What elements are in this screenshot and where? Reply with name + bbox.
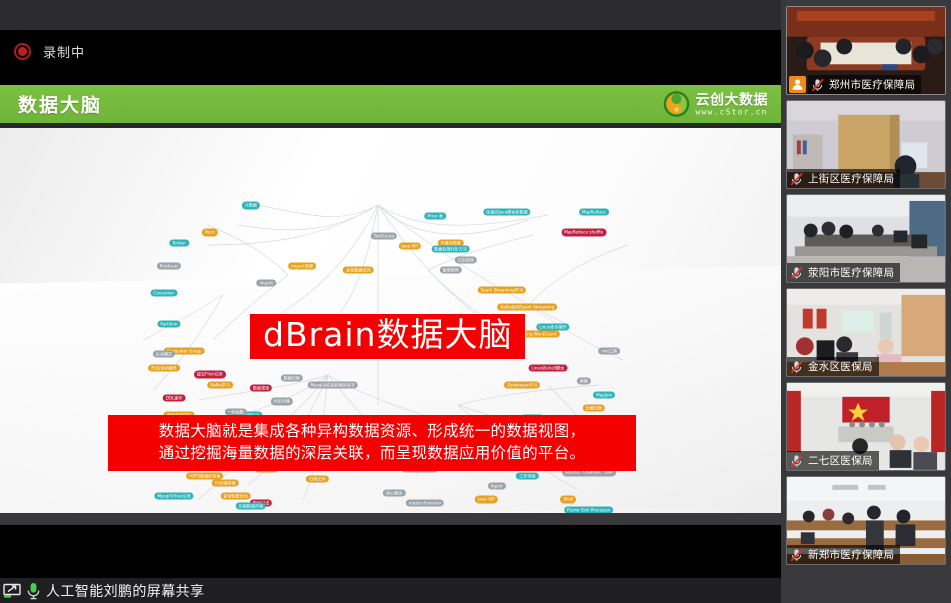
microphone-muted-icon [790, 454, 804, 468]
participant-name: 荥阳市医疗保障局 [808, 265, 894, 280]
mindmap-node: Linux的shell脚本 [528, 364, 567, 371]
participant-thumbnail[interactable]: 金水区医保局 [786, 288, 946, 377]
mindmap-node: 开启/关闭服务 [148, 364, 180, 371]
description-line-2: 通过挖掘海量数据的深层关联，而呈现数据应用价值的平台。 [118, 442, 626, 464]
mindmap-node: 归档文件 [306, 476, 328, 483]
mindmap-node: import原理 [288, 263, 316, 270]
participant-label: 上街区医疗保障局 [787, 169, 900, 188]
participant-name: 上街区医疗保障局 [808, 171, 894, 186]
mindmap-node: 数据类型 [250, 384, 272, 391]
letterbox-area [0, 525, 781, 578]
participant-label: 二七区医保局 [787, 451, 879, 470]
recording-indicator[interactable]: 录制中 [14, 42, 85, 61]
microphone-muted-icon [811, 78, 825, 92]
participant-label: 郑州市医疗保障局 [808, 75, 921, 94]
slide-description-box: 数据大脑就是集成各种异构数据资源、形成统一的数据视图， 通过挖掘海量数据的深层关… [108, 415, 636, 471]
screen-share-statusbar: 人工智能刘鹏的屏幕共享 [0, 578, 781, 603]
mindmap-node: Mysql对应库和表的名字 [308, 381, 359, 388]
screen-share-label: 人工智能刘鹏的屏幕共享 [46, 581, 204, 601]
mindmap-node: TextCount [371, 232, 397, 239]
mindmap-node: 数据迁移 [281, 374, 303, 381]
record-dot-icon [14, 43, 31, 60]
mindmap-node: Producer [157, 263, 181, 270]
avatar [789, 76, 806, 93]
mindmap-node: 压缩数据存储 [236, 503, 267, 510]
brand-name: 云创大数据 [696, 92, 769, 106]
mindmap-node: Flume Sink Processor [564, 506, 614, 513]
mindmap-node: Topic [202, 229, 218, 236]
mindmap-node: 使用案例 [439, 266, 461, 273]
microphone-muted-icon [790, 548, 804, 562]
microphone-on-icon[interactable] [26, 582, 41, 600]
mindmap-node: 快速的Java脚本和数据 [483, 209, 530, 216]
mindmap-node: 负载均衡 [583, 405, 605, 412]
mindmap-node: 查询性能优化 [220, 493, 251, 500]
participant-gallery[interactable]: 郑州市医疗保障局 上街区医疗保障局 荥阳市医疗保障局 [781, 0, 951, 603]
mindmap-node: MapReduce shuffle [561, 229, 606, 236]
participant-thumbnail[interactable]: 上街区医疗保障局 [786, 100, 946, 189]
participant-thumbnail[interactable]: 二七区医保局 [786, 382, 946, 471]
microphone-muted-icon [790, 172, 804, 186]
participant-name: 新郑市医疗保障局 [808, 547, 894, 562]
mindmap-node: Kafka结合Spark Streaming [497, 303, 557, 310]
mindmap-node: 分区分桶 [270, 398, 292, 405]
window-top-chrome [0, 0, 781, 30]
mindmap-node: Java API [398, 242, 420, 249]
mindmap-node: Mysql与Hive互导 [154, 493, 193, 500]
mindmap-node: 行存储原理 [212, 479, 238, 486]
mindmap-node: 企业模式 [153, 351, 175, 358]
mindmap-node: 工作流程 [516, 472, 538, 479]
mindmap-node: vim工具 [598, 347, 620, 354]
mindmap-node: Partition [157, 320, 180, 327]
mindmap-node: Agent [488, 482, 506, 489]
recording-label: 录制中 [43, 42, 85, 61]
mindmap-node: 原理 [577, 378, 591, 385]
mindmap-node: 提交Flink任务 [194, 371, 226, 378]
participant-name: 金水区医保局 [808, 359, 873, 374]
mindmap-node: 日志结构 [455, 256, 477, 263]
mindmap-node: DDL操作 [163, 395, 186, 402]
slide-header-bar: 数据大脑 云创大数据 www.cStor.cn [0, 85, 781, 123]
slide-header-title: 数据大脑 [18, 91, 102, 118]
mindmap-node: master与worker [406, 499, 445, 506]
main-title-text: dBrain数据大脑 [263, 318, 512, 353]
microphone-muted-icon [790, 360, 804, 374]
brand-url: www.cStor.cn [696, 108, 769, 116]
participant-thumbnail[interactable]: 新郑市医疗保障局 [786, 476, 946, 565]
mindmap-node: 元数据 [242, 202, 260, 209]
shared-screen-slide: 数据大脑 云创大数据 www.cStor.cn [0, 85, 781, 513]
zoom-meeting-window: 录制中 数据大脑 云创大数据 www.cStor.cn [0, 0, 951, 603]
participant-label: 荥阳市医疗保障局 [787, 263, 900, 282]
mindmap-node: Zookeeper学习 [504, 381, 540, 388]
mindmap-node: Shell [560, 496, 576, 503]
mindmap-node: Spark Streaming学习 [478, 286, 526, 293]
mindmap-node: Prive 表 [424, 212, 446, 219]
mindmap-node: 核心概念 [383, 489, 405, 496]
mindmap-node: 数据处理分析方法 [431, 246, 470, 253]
description-line-1: 数据大脑就是集成各种异构数据资源、形成统一的数据视图， [118, 420, 626, 442]
mindmap-node: MapJoin [593, 391, 615, 398]
mindmap-node: Java API [475, 496, 497, 503]
participant-name: 二七区医保局 [808, 453, 873, 468]
recording-band: 录制中 [0, 30, 781, 85]
participant-label: 新郑市医疗保障局 [787, 545, 900, 564]
mindmap-node: Kafka学习 [207, 381, 233, 388]
mindmap-node: Consumer [150, 290, 177, 297]
mindmap-node: import [256, 280, 276, 287]
screen-share-icon[interactable] [3, 583, 21, 599]
brand-logo: 云创大数据 www.cStor.cn [663, 91, 769, 118]
cstor-swirl-logo-icon [663, 91, 690, 118]
slide-bottom-gap [0, 513, 781, 525]
mindmap-node: Broker [170, 239, 189, 246]
participant-label: 金水区医保局 [787, 357, 879, 376]
participant-thumbnail[interactable]: 荥阳市医疗保障局 [786, 194, 946, 283]
slide-main-title: dBrain数据大脑 [249, 313, 526, 360]
microphone-muted-icon [790, 266, 804, 280]
participant-thumbnail[interactable]: 郑州市医疗保障局 [786, 6, 946, 95]
mindmap-node: MapReduce [579, 209, 609, 216]
slide-body: 元数据TopicBrokerProducerConsumerPartitionC… [0, 128, 781, 513]
participant-name: 郑州市医疗保障局 [829, 77, 915, 92]
mindmap-node: 关系数据库的 [343, 266, 374, 273]
person-avatar-icon [791, 78, 804, 91]
